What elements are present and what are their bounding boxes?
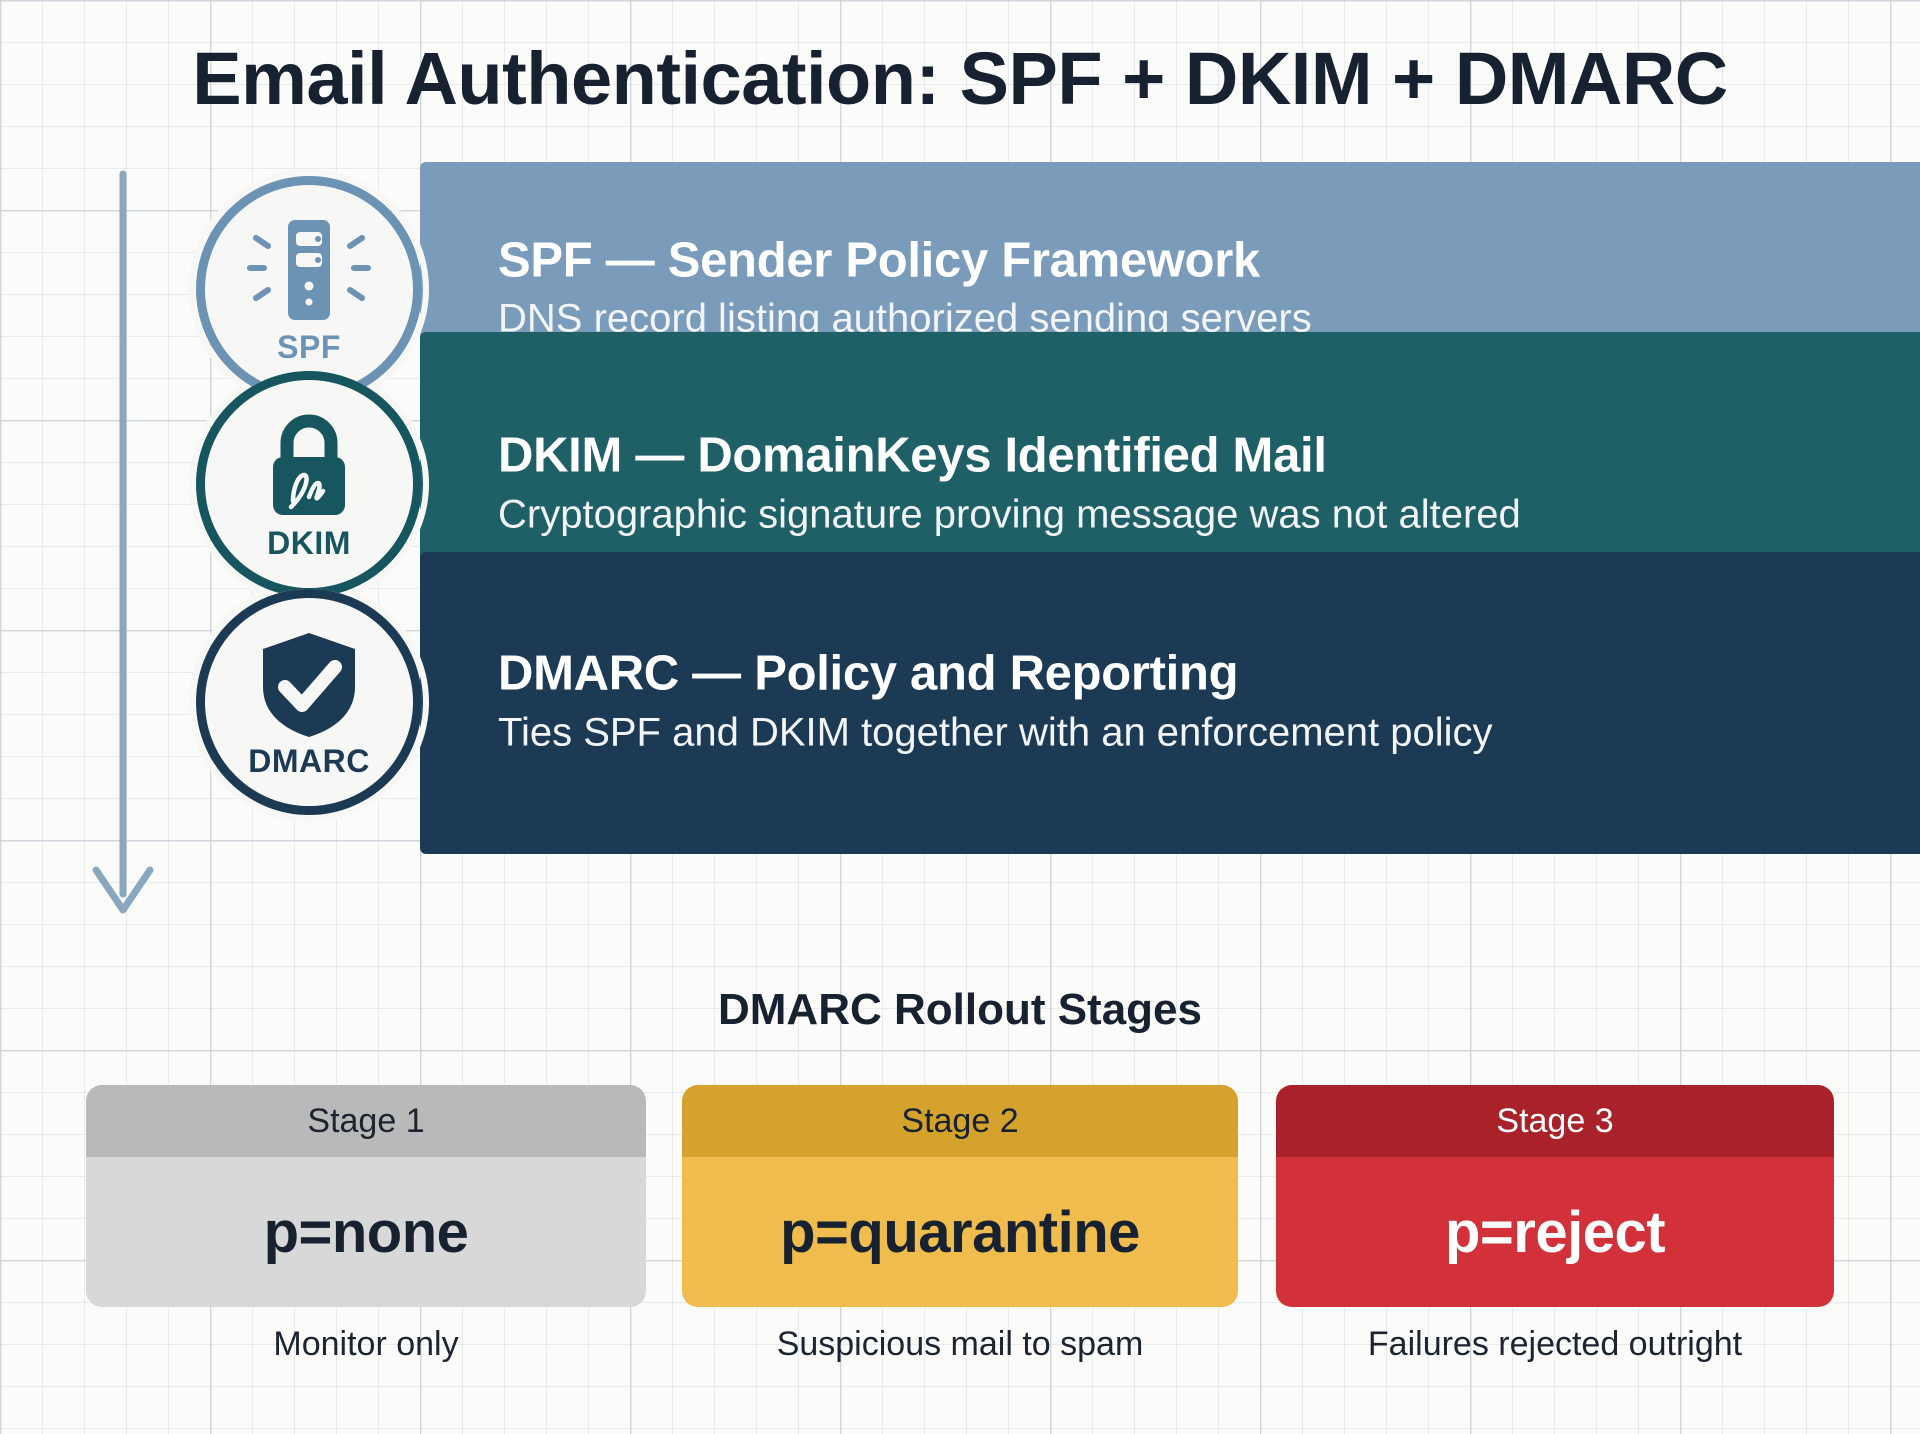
rollout-stages: Stage 1 p=none Stage 2 p=quarantine Stag… [0, 1085, 1920, 1315]
row-dkim-title: DKIM — DomainKeys Identified Mail [498, 429, 1880, 484]
stage-2-label: Stage 2 [682, 1085, 1238, 1157]
page-title: Email Authentication: SPF + DKIM + DMARC [0, 36, 1920, 121]
stage-3-label: Stage 3 [1276, 1085, 1834, 1157]
stage-card-3[interactable]: Stage 3 p=reject [1276, 1085, 1834, 1307]
badge-dkim[interactable]: DKIM [196, 371, 422, 597]
stage-1-policy: p=none [86, 1157, 646, 1307]
badge-spf[interactable]: SPF [196, 176, 422, 402]
row-dmarc-subtitle: Ties SPF and DKIM together with an enfor… [498, 707, 1880, 757]
rollout-heading: DMARC Rollout Stages [0, 985, 1920, 1035]
row-dmarc: DMARC — Policy and Reporting Ties SPF an… [0, 650, 1920, 754]
stage-card-2[interactable]: Stage 2 p=quarantine [682, 1085, 1238, 1307]
stage-card-1[interactable]: Stage 1 p=none [86, 1085, 646, 1307]
infographic-canvas: Email Authentication: SPF + DKIM + DMARC… [0, 0, 1920, 1434]
row-spf-title: SPF — Sender Policy Framework [498, 233, 1880, 288]
padlock-sign-icon [249, 411, 369, 523]
badge-dmarc-label: DMARC [248, 743, 370, 780]
badge-dmarc[interactable]: DMARC [196, 589, 422, 815]
row-dkim: DKIM — DomainKeys Identified Mail Crypto… [0, 432, 1920, 536]
badge-dkim-label: DKIM [267, 525, 351, 562]
stage-2-policy: p=quarantine [682, 1157, 1238, 1307]
row-dmarc-text: DMARC — Policy and Reporting Ties SPF an… [498, 647, 1880, 758]
badge-spf-label: SPF [277, 329, 341, 366]
row-spf-text: SPF — Sender Policy Framework DNS record… [498, 233, 1880, 344]
stage-3-policy: p=reject [1276, 1157, 1834, 1307]
shield-check-icon [251, 629, 367, 741]
row-dkim-text: DKIM — DomainKeys Identified Mail Crypto… [498, 429, 1880, 540]
stage-1-caption: Monitor only [86, 1325, 646, 1364]
row-dkim-subtitle: Cryptographic signature proving message … [498, 489, 1880, 539]
row-dmarc-title: DMARC — Policy and Reporting [498, 647, 1880, 702]
server-icon [234, 215, 384, 327]
stage-1-label: Stage 1 [86, 1085, 646, 1157]
stage-3-caption: Failures rejected outright [1276, 1325, 1834, 1364]
stage-2-caption: Suspicious mail to spam [682, 1325, 1238, 1364]
